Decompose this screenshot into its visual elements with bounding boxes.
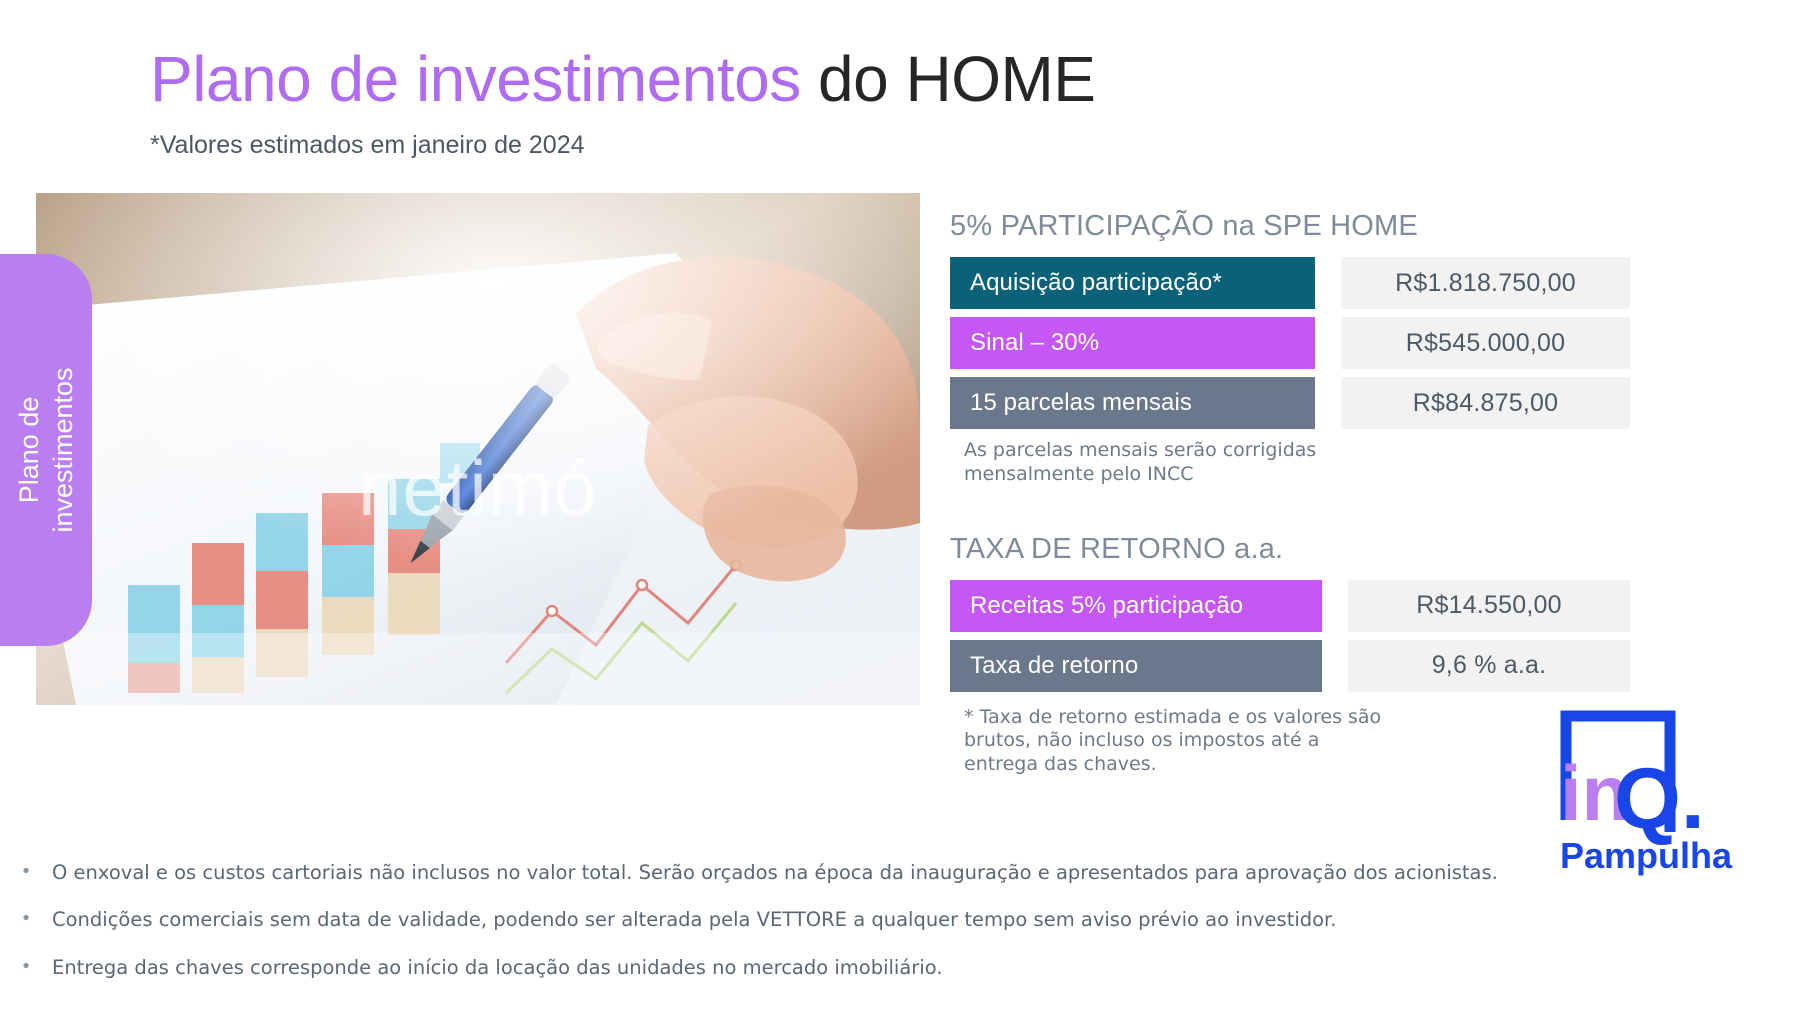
bullet-marker-icon: • <box>18 907 34 932</box>
list-item-text: Entrega das chaves corresponde ao início… <box>52 955 1498 980</box>
page-title-plain: do HOME <box>801 43 1096 115</box>
table-row-parcelas: 15 parcelas mensais R$84.875,00 <box>950 377 1630 429</box>
row-label-receitas: Receitas 5% participação <box>950 580 1322 632</box>
row-value-taxa-retorno: 9,6 % a.a. <box>1348 640 1630 692</box>
header: Plano de investimentos do HOME *Valores … <box>150 46 1600 160</box>
table-row-taxa-retorno: Taxa de retorno 9,6 % a.a. <box>950 640 1630 692</box>
row-label-taxa-retorno: Taxa de retorno <box>950 640 1322 692</box>
page-title: Plano de investimentos do HOME <box>150 46 1600 113</box>
investment-details-panel: 5% PARTICIPAÇÃO na SPE HOME Aquisição pa… <box>950 210 1630 777</box>
row-value-sinal: R$545.000,00 <box>1341 317 1630 369</box>
disclaimer-list: • O enxoval e os custos cartoriais não i… <box>18 860 1498 1002</box>
logo-inq-pampulha: in Q. Pampulha <box>1552 700 1752 880</box>
logo-q-text: Q. <box>1614 751 1705 847</box>
section-title-taxa-retorno: TAXA DE RETORNO a.a. <box>950 533 1630 566</box>
hero-image-graphic <box>36 193 920 705</box>
side-tab-plano-de-investimentos: Plano de investimentos <box>0 254 92 646</box>
row-value-parcelas: R$84.875,00 <box>1341 377 1630 429</box>
logo-wordmark: Pampulha <box>1560 835 1733 876</box>
slide-root: Plano de investimentos do HOME *Valores … <box>0 0 1800 1012</box>
list-item: • Condições comerciais sem data de valid… <box>18 907 1498 932</box>
row-label-sinal: Sinal – 30% <box>950 317 1315 369</box>
list-item-text: Condições comerciais sem data de validad… <box>52 907 1498 932</box>
note-incc: As parcelas mensais serão corrigidas men… <box>964 439 1384 487</box>
page-subtitle: *Valores estimados em janeiro de 2024 <box>150 131 1600 160</box>
note-taxa-retorno: * Taxa de retorno estimada e os valores … <box>964 706 1384 777</box>
table-row-aquisicao: Aquisição participação* R$1.818.750,00 <box>950 257 1630 309</box>
list-item-text: O enxoval e os custos cartoriais não inc… <box>52 860 1498 885</box>
bullet-marker-icon: • <box>18 955 34 980</box>
table-row-receitas: Receitas 5% participação R$14.550,00 <box>950 580 1630 632</box>
page-title-accent: Plano de investimentos <box>150 43 801 115</box>
row-value-receitas: R$14.550,00 <box>1348 580 1630 632</box>
side-tab-line-1: Plano de <box>12 260 46 640</box>
list-item: • O enxoval e os custos cartoriais não i… <box>18 860 1498 885</box>
bullet-marker-icon: • <box>18 860 34 885</box>
row-label-aquisicao: Aquisição participação* <box>950 257 1315 309</box>
table-row-sinal: Sinal – 30% R$545.000,00 <box>950 317 1630 369</box>
section-title-participacao: 5% PARTICIPAÇÃO na SPE HOME <box>950 210 1630 243</box>
logo-graphic: in Q. Pampulha <box>1552 700 1752 880</box>
side-tab-label: Plano de investimentos <box>12 260 80 640</box>
hero-image: netimó <box>36 193 920 705</box>
row-label-parcelas: 15 parcelas mensais <box>950 377 1315 429</box>
side-tab-line-2: investimentos <box>46 260 80 640</box>
list-item: • Entrega das chaves corresponde ao iníc… <box>18 955 1498 980</box>
row-value-aquisicao: R$1.818.750,00 <box>1341 257 1630 309</box>
